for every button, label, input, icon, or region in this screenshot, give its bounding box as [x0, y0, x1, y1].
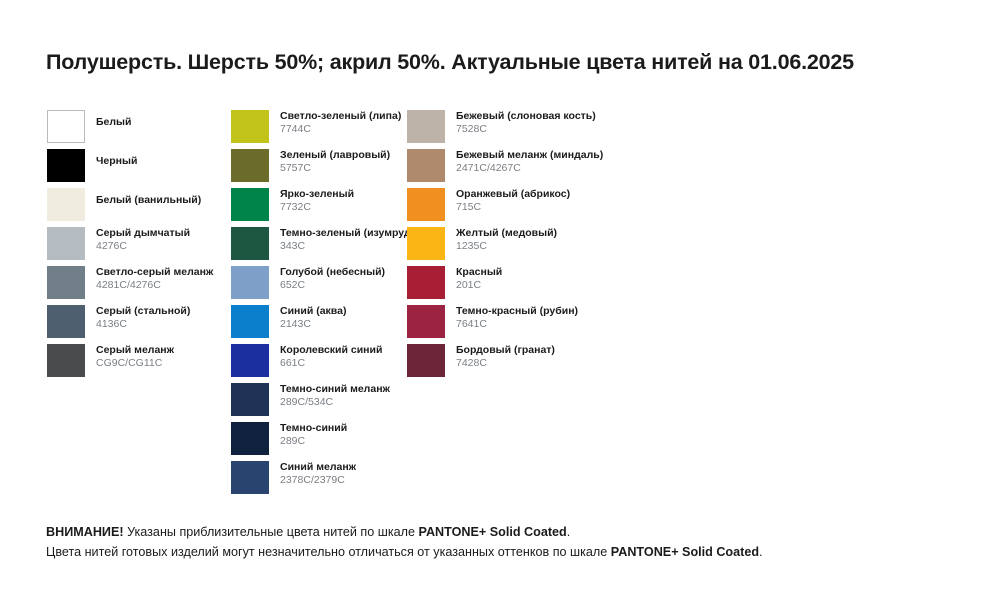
- swatch-pantone-code: 7641C: [456, 318, 646, 331]
- swatch-labels: Бежевый меланж (миндаль)2471C/4267C: [456, 149, 646, 175]
- swatch-column-3: Бежевый (слоновая кость)7528CБежевый мел…: [407, 110, 627, 383]
- swatch-name: Оранжевый (абрикос): [456, 188, 646, 201]
- swatch-row: Красный201C: [407, 266, 627, 305]
- page-title: Полушерсть. Шерсть 50%; акрил 50%. Актуа…: [46, 50, 854, 75]
- swatch-labels: Темно-красный (рубин)7641C: [456, 305, 646, 331]
- swatch-row: Оранжевый (абрикос)715C: [407, 188, 627, 227]
- swatch-row: Желтый (медовый)1235C: [407, 227, 627, 266]
- footer-line-2: Цвета нитей готовых изделий могут незнач…: [46, 542, 946, 562]
- swatch-row: Синий меланж2378C/2379C: [231, 461, 451, 500]
- color-chip: [407, 227, 445, 260]
- swatch-labels: Синий меланж2378C/2379C: [280, 461, 470, 487]
- swatch-row: Темно-синий меланж289C/534C: [231, 383, 451, 422]
- color-chip: [47, 188, 85, 221]
- swatch-labels: Красный201C: [456, 266, 646, 292]
- color-chart-page: Полушерсть. Шерсть 50%; акрил 50%. Актуа…: [0, 0, 1000, 610]
- color-chip: [47, 227, 85, 260]
- swatch-name: Красный: [456, 266, 646, 279]
- pantone-label-2: PANTONE+ Solid Coated: [611, 545, 759, 559]
- swatch-name: Бежевый меланж (миндаль): [456, 149, 646, 162]
- pantone-label-1: PANTONE+ Solid Coated: [418, 525, 566, 539]
- color-chip: [231, 149, 269, 182]
- color-chip: [231, 188, 269, 221]
- swatch-row: Бордовый (гранат)7428C: [407, 344, 627, 383]
- swatch-pantone-code: 715C: [456, 201, 646, 214]
- color-chip: [407, 266, 445, 299]
- color-chip: [407, 344, 445, 377]
- swatch-name: Темно-синий меланж: [280, 383, 470, 396]
- swatch-name: Желтый (медовый): [456, 227, 646, 240]
- swatch-name: Синий меланж: [280, 461, 470, 474]
- color-chip: [407, 149, 445, 182]
- swatch-labels: Оранжевый (абрикос)715C: [456, 188, 646, 214]
- swatch-name: Бежевый (слоновая кость): [456, 110, 646, 123]
- footer-line-2-text: Цвета нитей готовых изделий могут незнач…: [46, 545, 611, 559]
- swatch-row: Бежевый меланж (миндаль)2471C/4267C: [407, 149, 627, 188]
- color-chip: [231, 305, 269, 338]
- swatch-name: Бордовый (гранат): [456, 344, 646, 357]
- swatch-pantone-code: 7528C: [456, 123, 646, 136]
- color-chip: [231, 383, 269, 416]
- swatch-name: Темно-синий: [280, 422, 470, 435]
- swatch-labels: Бордовый (гранат)7428C: [456, 344, 646, 370]
- swatch-name: Темно-красный (рубин): [456, 305, 646, 318]
- swatch-row: Темно-синий289C: [231, 422, 451, 461]
- swatch-labels: Темно-синий289C: [280, 422, 470, 448]
- swatch-pantone-code: 2471C/4267C: [456, 162, 646, 175]
- color-chip: [231, 344, 269, 377]
- swatch-row: Бежевый (слоновая кость)7528C: [407, 110, 627, 149]
- swatch-pantone-code: 289C: [280, 435, 470, 448]
- color-chip: [231, 461, 269, 494]
- color-chip: [231, 227, 269, 260]
- color-chip: [47, 344, 85, 377]
- swatch-pantone-code: 2378C/2379C: [280, 474, 470, 487]
- color-chip: [47, 266, 85, 299]
- footer-line-1: ВНИМАНИЕ! Указаны приблизительные цвета …: [46, 522, 946, 542]
- color-chip: [47, 110, 85, 143]
- swatch-pantone-code: 289C/534C: [280, 396, 470, 409]
- color-chip: [407, 305, 445, 338]
- color-chip: [231, 422, 269, 455]
- swatch-labels: Желтый (медовый)1235C: [456, 227, 646, 253]
- color-chip: [231, 266, 269, 299]
- swatch-labels: Бежевый (слоновая кость)7528C: [456, 110, 646, 136]
- swatch-pantone-code: 1235C: [456, 240, 646, 253]
- color-chip: [47, 149, 85, 182]
- attention-label: ВНИМАНИЕ!: [46, 525, 124, 539]
- color-chip: [47, 305, 85, 338]
- swatch-labels: Темно-синий меланж289C/534C: [280, 383, 470, 409]
- color-chip: [407, 188, 445, 221]
- color-chip: [231, 110, 269, 143]
- footer-line-1-end: .: [567, 525, 571, 539]
- swatch-row: Темно-красный (рубин)7641C: [407, 305, 627, 344]
- swatch-pantone-code: 201C: [456, 279, 646, 292]
- swatch-pantone-code: 7428C: [456, 357, 646, 370]
- footer-line-2-end: .: [759, 545, 763, 559]
- color-chip: [407, 110, 445, 143]
- footer-line-1-text: Указаны приблизительные цвета нитей по ш…: [124, 525, 419, 539]
- footer-notice: ВНИМАНИЕ! Указаны приблизительные цвета …: [46, 522, 946, 562]
